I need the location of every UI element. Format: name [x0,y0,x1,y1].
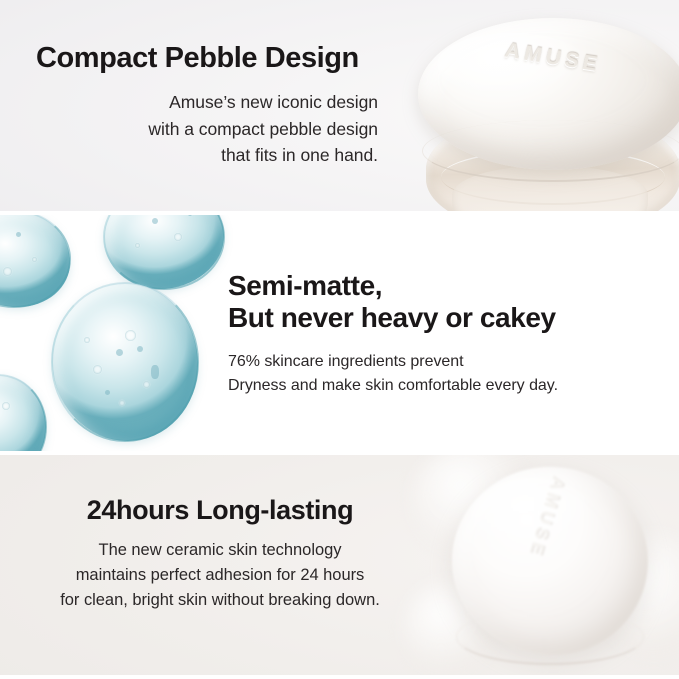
panel1-body: Amuse’s new iconic design with a compact… [0,89,392,169]
gel-bubble [119,400,125,406]
panel1-text-block: Compact Pebble Design Amuse’s new iconic… [0,42,392,169]
panel2-headline-line-2: But never heavy or cakey [228,302,668,334]
panel-separator-2 [0,451,679,455]
gel-droplet [104,215,224,289]
panel3-body-line-2: maintains perfect adhesion for 24 hours [0,563,440,588]
panel-compact-pebble-design: AMUSE Compact Pebble Design Amuse’s new … [0,0,679,215]
panel3-body: The new ceramic skin technology maintain… [0,538,440,613]
panel-semi-matte: Semi-matte, But never heavy or cakey 76%… [0,215,679,455]
gel-bubble [93,365,102,374]
gel-droplet [0,375,46,455]
gel-bubble [174,233,182,241]
panel1-body-line-3: that fits in one hand. [0,142,378,169]
compact-lid-seam [422,120,679,182]
panel1-body-line-1: Amuse’s new iconic design [0,89,378,116]
gel-bubble [137,346,143,352]
gel-droplet-large [52,283,198,441]
gel-bubble [116,349,123,356]
panel2-text-block: Semi-matte, But never heavy or cakey 76%… [228,270,668,398]
panel2-body-line-1: 76% skincare ingredients prevent [228,350,668,374]
gel-bubble [3,267,12,276]
gel-bubble [151,365,159,379]
gel-bubble [188,215,192,216]
panel-separator-1 [0,211,679,215]
compact-rim-inner [464,617,636,665]
gel-bubble [135,243,140,248]
gel-bubble [152,218,158,224]
gel-bubble [16,232,21,237]
panel3-headline: 24hours Long-lasting [0,495,440,526]
gel-droplet [0,215,70,307]
gel-bubble [84,337,90,343]
gel-bubble [2,402,10,410]
panel1-body-line-2: with a compact pebble design [0,116,378,143]
panel2-headline-line-1: Semi-matte, [228,270,668,302]
panel-24hours-long-lasting: AMUSE 24hours Long-lasting The new ceram… [0,455,679,675]
panel2-body: 76% skincare ingredients prevent Dryness… [228,350,668,399]
panel3-body-line-1: The new ceramic skin technology [0,538,440,563]
gel-bubble [105,390,110,395]
gel-bubble [32,257,37,262]
panel2-headline: Semi-matte, But never heavy or cakey [228,270,668,334]
product-image-compact-closed: AMUSE [408,16,679,215]
panel3-text-block: 24hours Long-lasting The new ceramic ski… [0,495,440,613]
panel3-body-line-3: for clean, bright skin without breaking … [0,588,440,613]
product-image-compact-softfocus: AMUSE [452,467,658,663]
panel2-body-line-2: Dryness and make skin comfortable every … [228,374,668,398]
product-detail-image: AMUSE Compact Pebble Design Amuse’s new … [0,0,679,679]
panel1-headline: Compact Pebble Design [0,42,392,75]
gel-bubble [143,381,150,388]
gel-bubble [125,330,136,341]
